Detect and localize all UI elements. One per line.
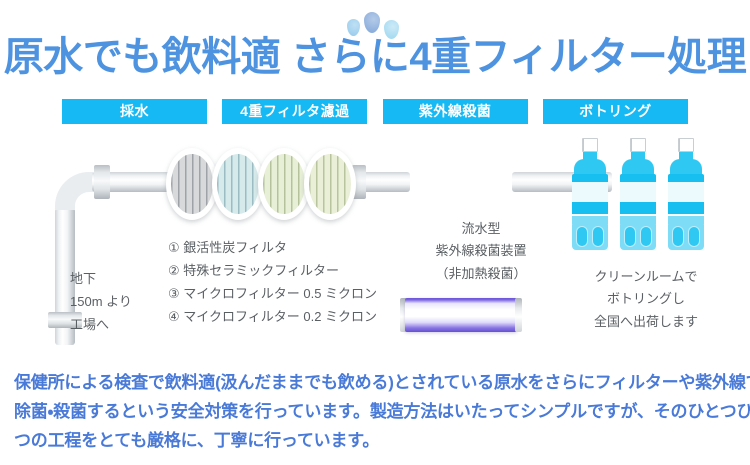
- pipe-collar-inlet: [94, 165, 110, 199]
- step-tab-collection[interactable]: 採水: [62, 99, 207, 124]
- filter-disc-3-micro-05: [258, 148, 310, 220]
- filter-disc-1-silver-carbon: [166, 148, 218, 220]
- uv-device-label-line3: （非加熱殺菌）: [400, 263, 562, 285]
- uv-device-label: 流水型 紫外線殺菌装置 （非加熱殺菌）: [400, 218, 562, 285]
- filter-disc-4-micro-02: [304, 148, 356, 220]
- bottle-label-band: [668, 182, 704, 202]
- filter-list-item-3: ③ マイクロフィルター 0.5 ミクロン: [168, 282, 377, 305]
- filter-list-item-4: ④ マイクロフィルター 0.2 ミクロン: [168, 305, 377, 328]
- source-label-line2: 150m より: [70, 291, 132, 314]
- bottling-label-line1: クリーンルームで: [566, 266, 726, 288]
- filter-number-3: ③: [168, 286, 180, 301]
- bottling-label: クリーンルームで ボトリングし 全国へ出荷します: [566, 266, 726, 333]
- filter-number-1: ①: [168, 240, 180, 255]
- pipe-elbow: [55, 172, 93, 210]
- infographic-page: 原水でも飲料適 さらに4重フィルター処理 採水 4重フィルタ濾過 紫外線殺菌 ボ…: [0, 0, 750, 465]
- footer-line-3: つの工程をとても厳格に、丁寧に行っています。: [14, 426, 738, 455]
- bottle-3: [666, 138, 706, 250]
- filter-name-1: 銀活性炭フィルタ: [183, 240, 287, 255]
- uv-device-label-line1: 流水型: [400, 218, 562, 240]
- step-tab-filtration[interactable]: 4重フィルタ濾過: [222, 99, 367, 124]
- filter-list-item-1: ① 銀活性炭フィルタ: [168, 236, 377, 259]
- water-drop-left-icon: [347, 19, 360, 36]
- bottle-label-band: [572, 182, 608, 202]
- filter-number-4: ④: [168, 309, 180, 324]
- footer-line-1: 保健所による検査で飲料適(汲んだままでも飲める)とされている原水をさらにフィルタ…: [14, 368, 738, 397]
- uv-device-label-line2: 紫外線殺菌装置: [400, 240, 562, 262]
- source-label-line1: 地下: [70, 268, 132, 291]
- uv-module-cap-right: [515, 298, 522, 332]
- bottle-cap-icon: [630, 138, 646, 152]
- step-tab-uv-sterilization[interactable]: 紫外線殺菌: [383, 99, 528, 124]
- filter-name-2: 特殊セラミックフィルター: [183, 263, 339, 278]
- step-tab-bottling[interactable]: ボトリング: [543, 99, 688, 124]
- process-steps: 採水 4重フィルタ濾過 紫外線殺菌 ボトリング: [62, 99, 688, 124]
- filter-name-3: マイクロフィルター 0.5 ミクロン: [183, 286, 377, 301]
- bottle-1: [570, 138, 610, 250]
- bottle-base: [620, 222, 656, 250]
- bottle-cap-icon: [582, 138, 598, 152]
- filter-number-2: ②: [168, 263, 180, 278]
- bottle-2: [618, 138, 658, 250]
- source-label: 地下 150m より 工場へ: [70, 268, 132, 336]
- filter-disc-3-media: [263, 154, 305, 214]
- bottle-base: [572, 222, 608, 250]
- filter-disc-4-media: [309, 154, 351, 214]
- filter-list: ① 銀活性炭フィルタ ② 特殊セラミックフィルター ③ マイクロフィルター 0.…: [168, 236, 377, 329]
- bottle-base: [668, 222, 704, 250]
- bottle-label-band: [620, 182, 656, 202]
- bottling-label-line3: 全国へ出荷します: [566, 311, 726, 333]
- filter-disc-2-ceramic: [212, 148, 264, 220]
- water-drop-center-icon: [364, 12, 380, 33]
- filter-disc-2-media: [217, 154, 259, 214]
- uv-sterilizer-module: [405, 298, 517, 332]
- footer-line-2: 除菌・殺菌するという安全対策を行っています。製造方法はいたってシンプルですが、そ…: [14, 397, 738, 426]
- bottling-label-line2: ボトリングし: [566, 288, 726, 310]
- filter-name-4: マイクロフィルター 0.2 ミクロン: [183, 309, 377, 324]
- source-label-line3: 工場へ: [70, 314, 132, 337]
- page-title: 原水でも飲料適 さらに4重フィルター処理: [0, 36, 750, 78]
- bottle-cap-icon: [678, 138, 694, 152]
- filter-list-item-2: ② 特殊セラミックフィルター: [168, 259, 377, 282]
- footer-description: 保健所による検査で飲料適(汲んだままでも飲める)とされている原水をさらにフィルタ…: [14, 368, 738, 456]
- filter-disc-1-media: [171, 154, 213, 214]
